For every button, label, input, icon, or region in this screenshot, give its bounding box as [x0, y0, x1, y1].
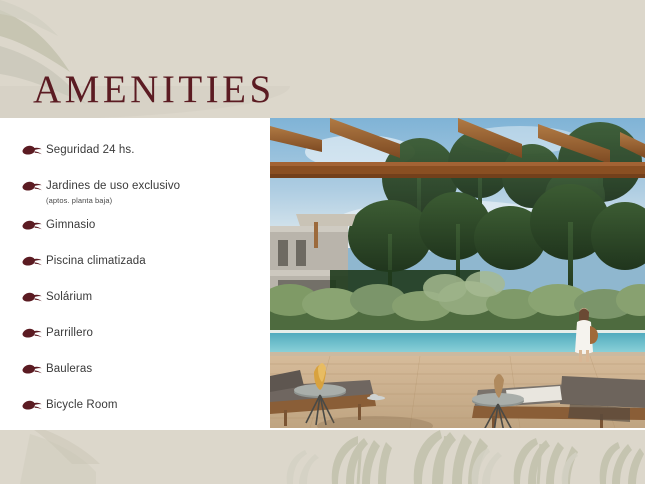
- list-item: Solárium: [20, 287, 260, 308]
- list-item-text: Bicycle Room: [46, 395, 260, 413]
- leaf-icon: [20, 179, 46, 197]
- amenity-label: Parrillero: [46, 327, 93, 339]
- amenity-label: Bauleras: [46, 363, 92, 375]
- list-item-text: Piscina climatizada: [46, 251, 260, 269]
- leaf-icon: [20, 218, 46, 236]
- amenities-pool-deck-photo: [270, 118, 645, 428]
- amenities-list: Seguridad 24 hs. Jardines de uso exclusi…: [20, 140, 260, 431]
- amenities-slide: AMENITIES Seguridad 24 hs.: [0, 0, 645, 484]
- leaf-icon: [20, 326, 46, 344]
- amenity-label: Seguridad 24 hs.: [46, 144, 135, 156]
- amenity-sublabel: (aptos. planta baja): [46, 196, 260, 206]
- amenity-label: Solárium: [46, 291, 92, 303]
- amenity-label: Gimnasio: [46, 219, 95, 231]
- bottom-leaf-decoration: [0, 430, 645, 484]
- list-item-text: Seguridad 24 hs.: [46, 140, 260, 158]
- amenity-label: Piscina climatizada: [46, 255, 146, 267]
- leaf-icon: [20, 254, 46, 272]
- amenity-label: Jardines de uso exclusivo: [46, 180, 180, 192]
- list-item: Piscina climatizada: [20, 251, 260, 272]
- list-item: Bauleras: [20, 359, 260, 380]
- leaf-icon: [20, 290, 46, 308]
- page-title: AMENITIES: [33, 70, 275, 109]
- list-item-text: Bauleras: [46, 359, 260, 377]
- list-item: Jardines de uso exclusivo (aptos. planta…: [20, 176, 260, 206]
- list-item-text: Jardines de uso exclusivo (aptos. planta…: [46, 176, 260, 206]
- list-item-text: Gimnasio: [46, 215, 260, 233]
- list-item-text: Parrillero: [46, 323, 260, 341]
- leaf-icon: [20, 362, 46, 380]
- leaf-icon: [20, 398, 46, 416]
- list-item: Gimnasio: [20, 215, 260, 236]
- list-item: Bicycle Room: [20, 395, 260, 416]
- leaf-icon: [20, 143, 46, 161]
- list-item-text: Solárium: [46, 287, 260, 305]
- list-item: Parrillero: [20, 323, 260, 344]
- list-item: Seguridad 24 hs.: [20, 140, 260, 161]
- footer-band: [0, 430, 645, 484]
- amenity-label: Bicycle Room: [46, 399, 118, 411]
